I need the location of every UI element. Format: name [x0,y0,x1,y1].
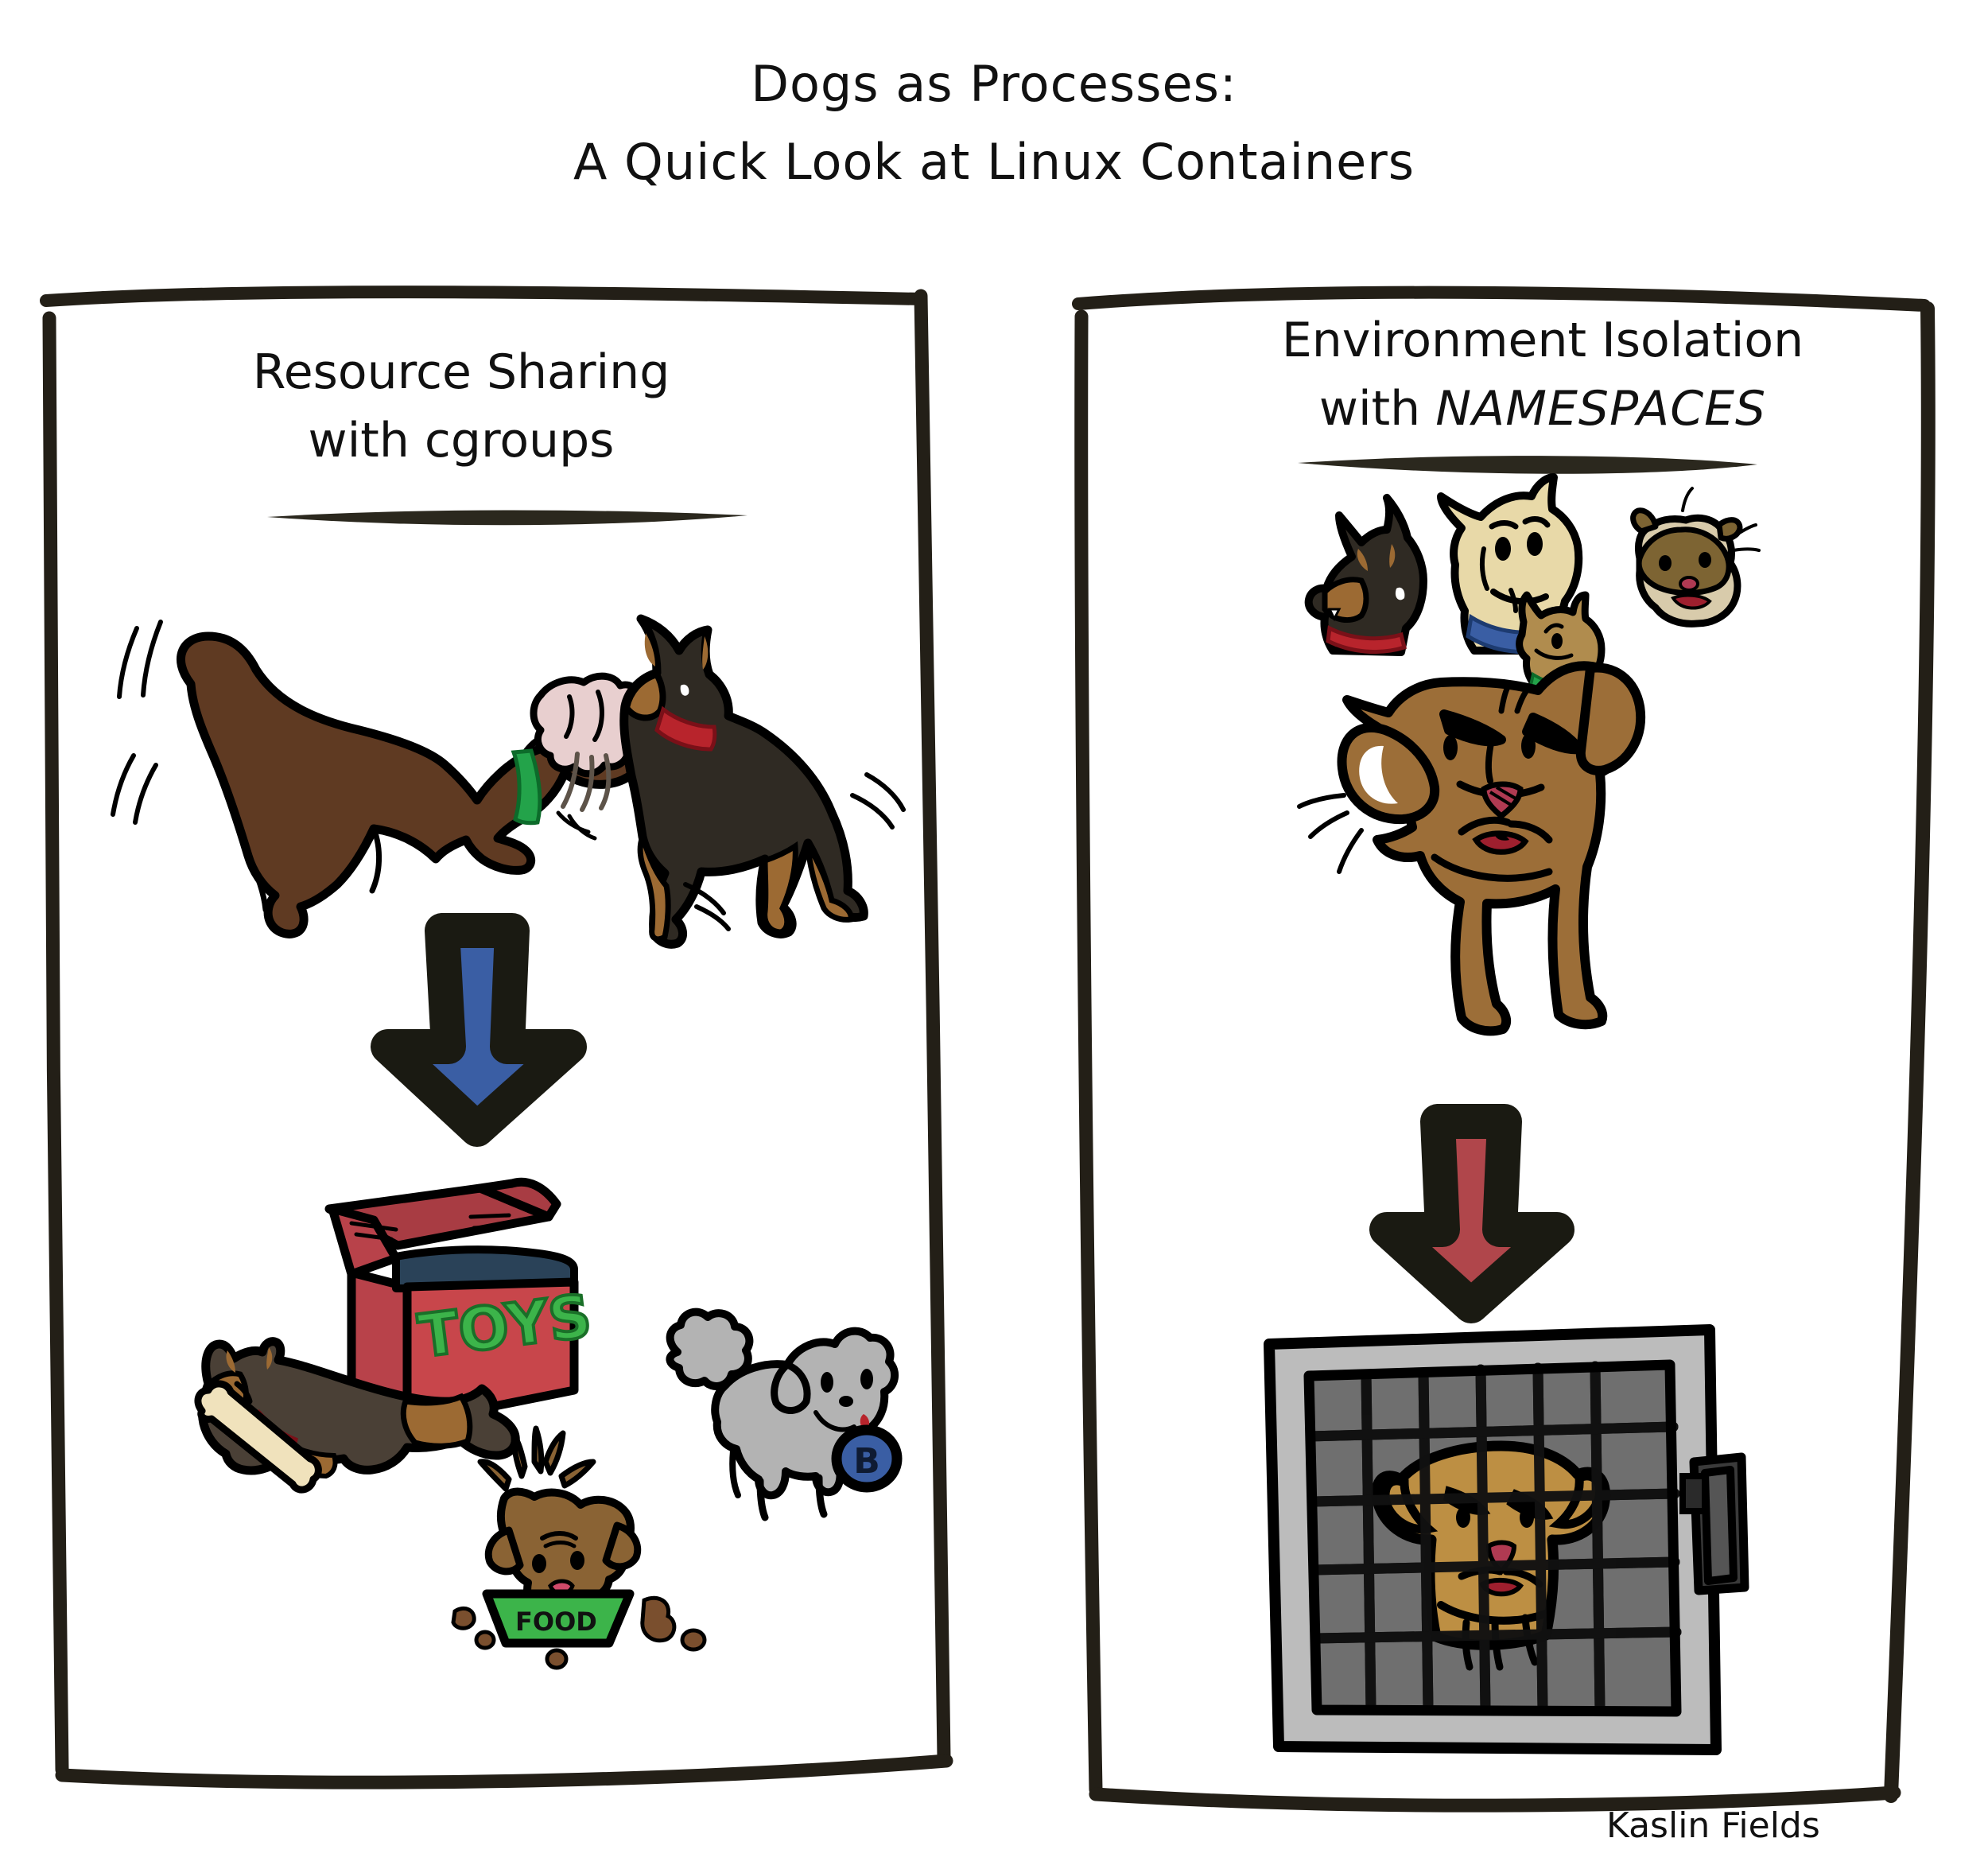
comic-title: Dogs as Processes: A Quick Look at Linux… [0,46,1988,202]
left-panel-frame [46,292,946,1782]
blue-collar [1468,617,1557,652]
left-heading-underline [267,511,747,526]
right-heading-line-2: with NAMESPACES [1169,375,1916,443]
down-arrow-red [1387,1121,1557,1306]
tan-dog-head [1441,477,1578,652]
gray-poodle [670,1312,895,1517]
crate-latch[interactable] [1683,1457,1745,1591]
small-tan-dog-head [1520,595,1602,699]
dog-heads-row [1309,477,1759,699]
toy-box: TOYS [329,1182,595,1424]
right-heading-underline [1298,456,1757,474]
left-heading-line-1: Resource Sharing [143,338,779,406]
right-heading-prefix: with [1319,381,1435,437]
ball-label: B [853,1441,880,1482]
green-collar-small [1530,674,1592,699]
right-panel-frame [1078,293,1928,1805]
down-arrow-blue [388,931,569,1129]
crate-bars-horizontal [1310,1427,1676,1638]
crate-bars-front [1310,1366,1676,1710]
motion-lines-right [685,775,903,929]
right-heading-emphasis: NAMESPACES [1435,381,1766,437]
toy-box-label: TOYS [415,1282,595,1371]
artist-credit: Kaslin Fields [1606,1805,1820,1846]
food-bowl: FOOD [487,1594,630,1643]
crate-scene [1269,1330,1745,1750]
title-line-2: A Quick Look at Linux Containers [0,122,1988,202]
green-collar [514,751,540,823]
crate-bars-vertical [1366,1366,1600,1710]
left-panel-heading: Resource Sharing with cgroups [143,338,779,475]
food-bowl-label: FOOD [515,1607,597,1637]
shared-resources-scene: TOYS [198,1182,897,1668]
tug-of-war-scene [113,619,903,944]
red-collar [657,709,715,749]
bone [198,1384,318,1490]
scattered-kibble [453,1598,705,1668]
pink-rope-toy [534,676,646,838]
doberman-with-bone [198,1342,515,1490]
left-heading-emphasis: cgroups [425,413,615,468]
right-panel-heading: Environment Isolation with NAMESPACES [1169,306,1916,443]
brown-dog [181,636,643,934]
crate-frame [1269,1330,1716,1750]
doberman-head [1309,498,1423,652]
brown-dog-eating: FOOD [453,1428,705,1668]
angry-brown-dog [1299,666,1640,1031]
motion-lines-left [113,622,161,822]
blue-ball: B [837,1430,897,1487]
title-line-1: Dogs as Processes: [0,46,1988,122]
comic-canvas: Dogs as Processes: A Quick Look at Linux… [0,0,1988,1869]
left-heading-prefix: with [309,413,425,468]
right-heading-line-1: Environment Isolation [1169,306,1916,375]
left-heading-line-2: with cgroups [143,406,779,475]
caged-dog [1376,1446,1605,1667]
crate-interior [1309,1365,1676,1712]
doberman-dog [624,619,864,944]
pug-head [1633,488,1759,624]
